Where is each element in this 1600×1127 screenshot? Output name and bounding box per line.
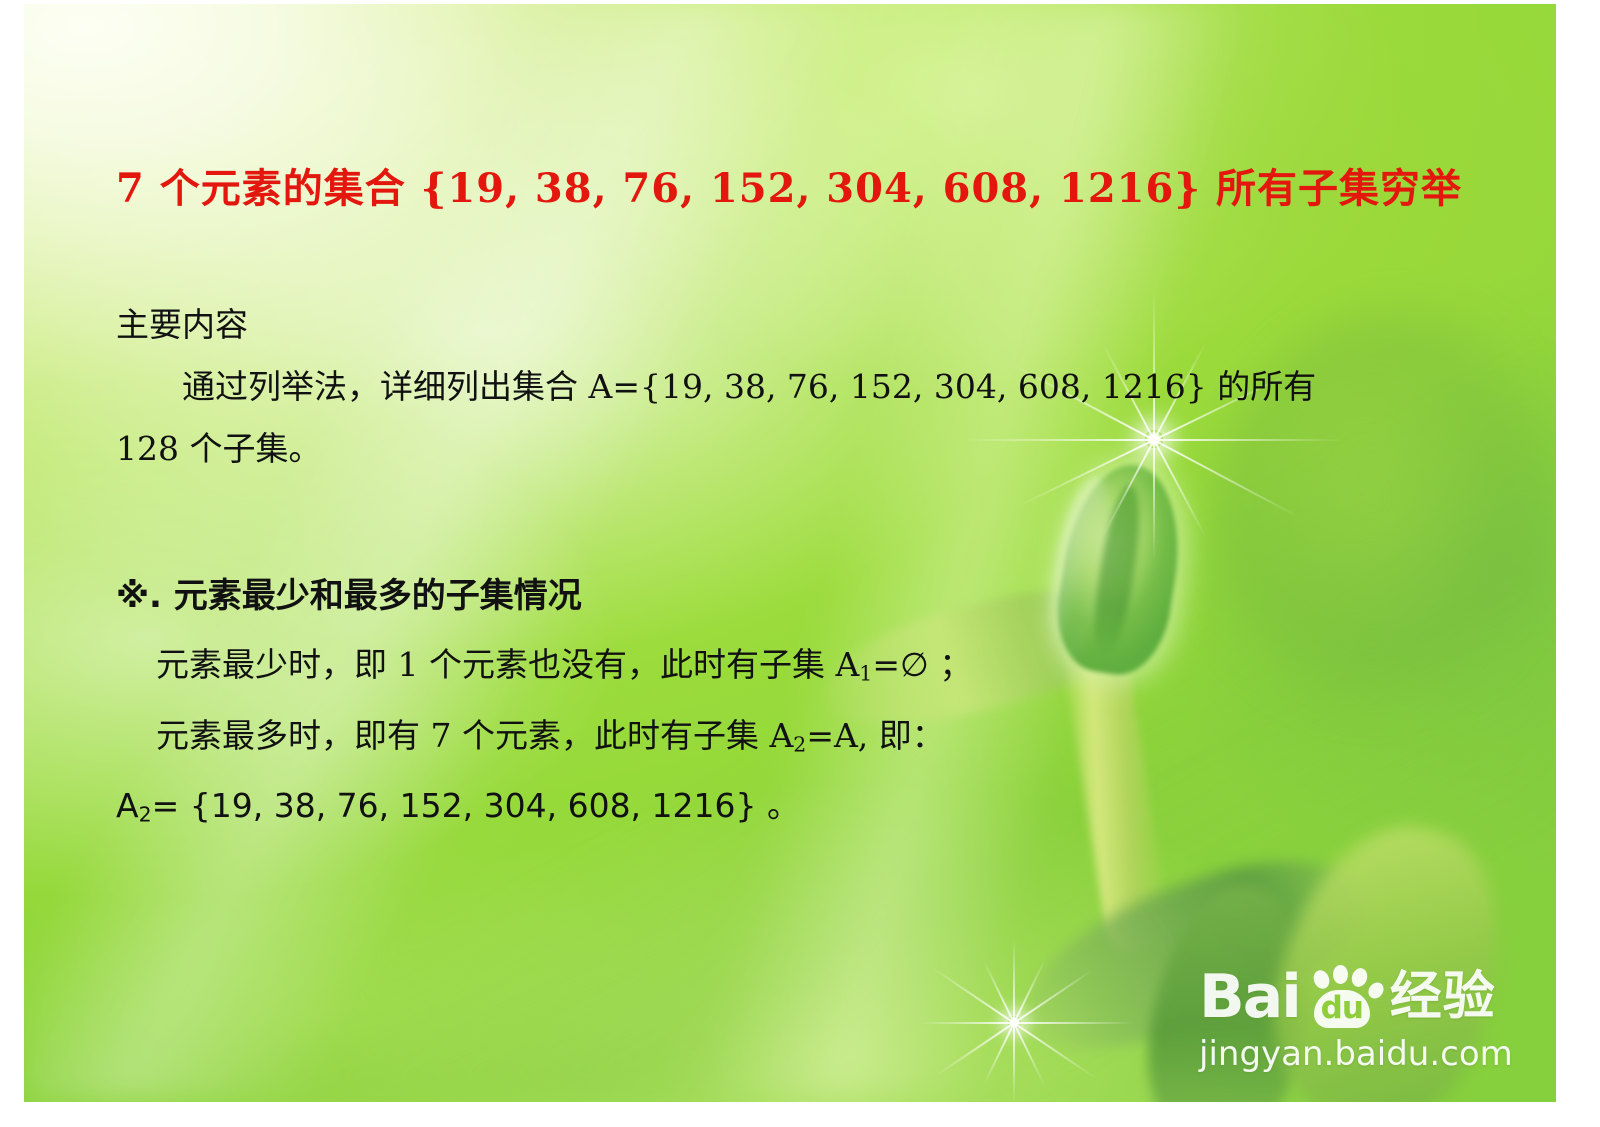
watermark-url: jingyan.baidu.com: [1199, 1034, 1529, 1074]
note3-suffix-text: = {19, 38, 76, 152, 304, 608, 1216} 。: [152, 786, 800, 825]
paw-toe-2: [1333, 965, 1348, 984]
main-content-line-2: 128 个子集。: [116, 418, 1516, 480]
note1-subscript: 1: [859, 662, 872, 686]
baidu-paw-icon: du: [1306, 966, 1384, 1028]
baidu-jingyan-cn-label: 经验: [1390, 971, 1496, 1023]
note3-prefix-text: A: [116, 786, 139, 825]
baidu-jingyan-watermark: Bai du 经验 jingyan.baidu.com: [1199, 966, 1529, 1074]
note1-suffix-text: =∅ ；: [872, 645, 972, 684]
slide-title: 7 个元素的集合 {19, 38, 76, 152, 304, 608, 121…: [116, 156, 1462, 214]
note-section-heading: ※. 元素最少和最多的子集情况: [116, 568, 1516, 624]
baidu-wordmark-latin: Bai: [1199, 969, 1300, 1026]
line1-suffix-text: 的所有: [1207, 367, 1317, 406]
note-line-3: A2= {19, 38, 76, 152, 304, 608, 1216} 。: [116, 775, 1516, 846]
slide-content: 7 个元素的集合 {19, 38, 76, 152, 304, 608, 121…: [24, 4, 1556, 1102]
slide-canvas: 7 个元素的集合 {19, 38, 76, 152, 304, 608, 121…: [24, 4, 1556, 1102]
slide-body: 主要内容 通过列举法，详细列出集合 A={19, 38, 76, 152, 30…: [116, 294, 1516, 846]
note1-prefix-text: 元素最少时，即 1 个元素也没有，此时有子集 A: [156, 645, 859, 684]
main-content-heading: 主要内容: [116, 294, 1516, 356]
main-content-line-1: 通过列举法，详细列出集合 A={19, 38, 76, 152, 304, 60…: [116, 356, 1516, 418]
note3-subscript: 2: [139, 803, 152, 827]
paw-toe-3: [1349, 966, 1369, 989]
paw-toe-1: [1311, 968, 1332, 991]
line1-set-literal: {19, 38, 76, 152, 304, 608, 1216}: [640, 367, 1207, 406]
note-line-1: 元素最少时，即 1 个元素也没有，此时有子集 A1=∅ ；: [116, 634, 1516, 705]
note2-suffix-text: =A, 即：: [806, 716, 944, 755]
page-root: 7 个元素的集合 {19, 38, 76, 152, 304, 608, 121…: [0, 0, 1600, 1127]
note2-prefix-text: 元素最多时，即有 7 个元素，此时有子集 A: [156, 716, 793, 755]
note-spacer: [116, 624, 1516, 634]
note2-subscript: 2: [793, 732, 806, 756]
note-line-2: 元素最多时，即有 7 个元素，此时有子集 A2=A, 即：: [116, 705, 1516, 776]
baidu-paw-text: du: [1318, 991, 1366, 1025]
paw-toe-4: [1365, 980, 1386, 1002]
watermark-logo-row: Bai du 经验: [1199, 966, 1529, 1028]
body-spacer: [116, 480, 1516, 568]
line1-prefix-text: 通过列举法，详细列出集合 A=: [182, 367, 640, 406]
